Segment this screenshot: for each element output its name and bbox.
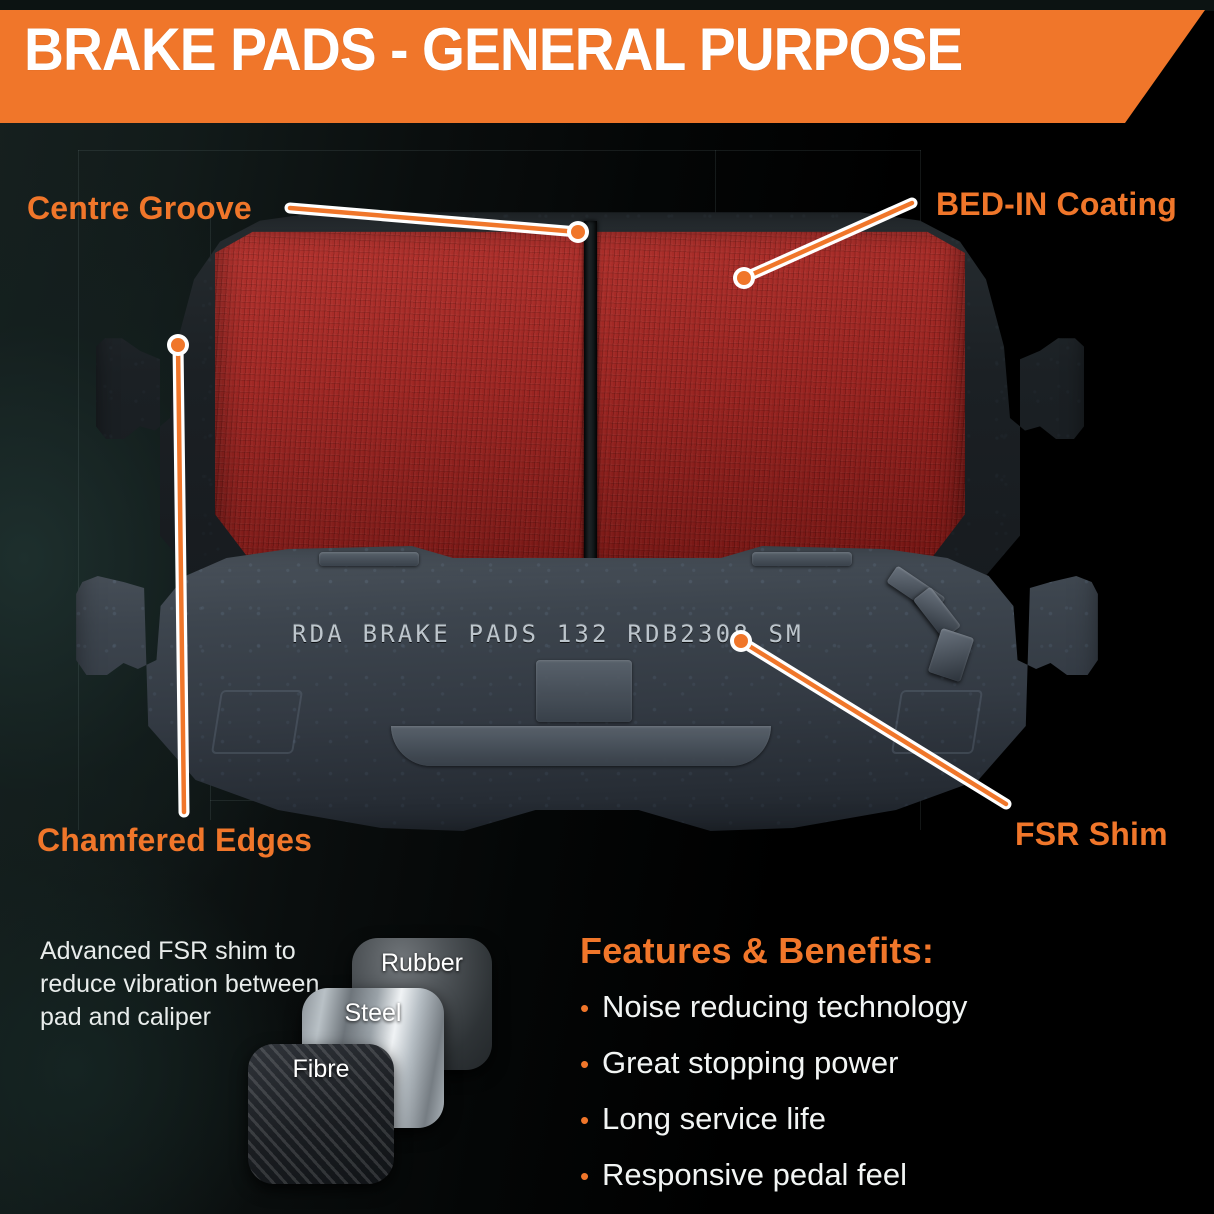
bullet-icon: • xyxy=(580,995,602,1021)
feature-item: • Noise reducing technology xyxy=(580,990,1180,1024)
feature-item-label: Noise reducing technology xyxy=(602,990,967,1024)
infographic-root: BRAKE PADS - GENERAL PURPOSE xyxy=(0,0,1214,1214)
callout-label-centre-groove: Centre Groove xyxy=(27,190,252,227)
callout-label-bed-in-coating: BED-IN Coating xyxy=(936,186,1177,223)
shim-material-stack: Rubber Steel Fibre xyxy=(240,930,510,1180)
stamp-diamond-right xyxy=(891,690,983,754)
shim-layer-steel-label: Steel xyxy=(345,999,402,1028)
feature-item: • Long service life xyxy=(580,1102,1180,1136)
brake-pad-photo: RDA BRAKE PADS 132 RDB2308 SM xyxy=(60,150,1110,840)
bullet-icon: • xyxy=(580,1107,602,1133)
features-heading: Features & Benefits: xyxy=(580,930,1180,972)
feature-item: • Great stopping power xyxy=(580,1046,1180,1080)
lower-brake-pad: RDA BRAKE PADS 132 RDB2308 SM xyxy=(72,540,1102,840)
shim-layer-rubber-label: Rubber xyxy=(381,949,463,978)
page-title: BRAKE PADS - GENERAL PURPOSE xyxy=(24,20,962,80)
feature-item-label: Long service life xyxy=(602,1102,826,1136)
shim-layer-fibre-label: Fibre xyxy=(293,1055,350,1084)
feature-item-label: Responsive pedal feel xyxy=(602,1158,907,1192)
callout-label-fsr-shim: FSR Shim xyxy=(1015,816,1168,853)
centre-lug xyxy=(536,660,632,722)
shim-layer-fibre: Fibre xyxy=(248,1044,394,1184)
bullet-icon: • xyxy=(580,1051,602,1077)
centre-groove-slot xyxy=(584,221,597,582)
feature-item: • Responsive pedal feel xyxy=(580,1158,1180,1192)
lower-backing-plate xyxy=(72,540,1102,840)
bullet-icon: • xyxy=(580,1163,602,1189)
lower-arch-lug xyxy=(391,726,771,766)
features-benefits-section: Features & Benefits: • Noise reducing te… xyxy=(580,930,1180,1214)
notch-right xyxy=(752,552,852,566)
feature-item-label: Great stopping power xyxy=(602,1046,898,1080)
notch-left xyxy=(319,552,419,566)
header-top-strip xyxy=(0,0,1214,11)
callout-label-chamfered-edges: Chamfered Edges xyxy=(37,822,312,859)
stamp-diamond-left xyxy=(211,690,303,754)
engraved-part-number: RDA BRAKE PADS 132 RDB2308 SM xyxy=(292,620,852,648)
